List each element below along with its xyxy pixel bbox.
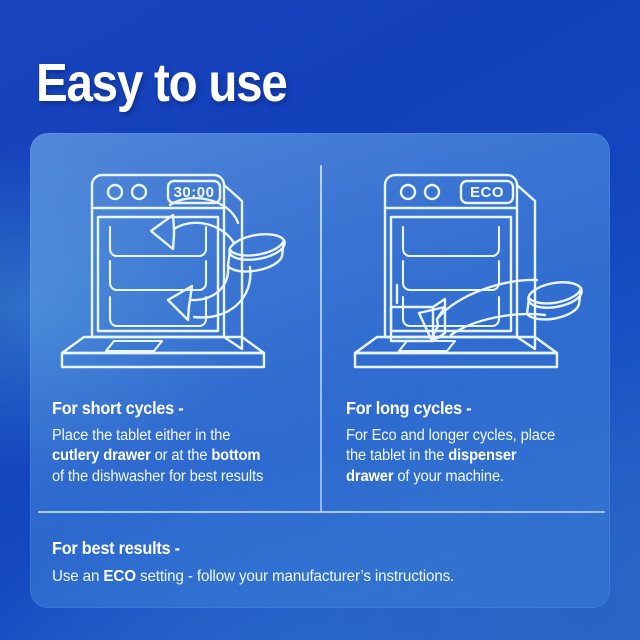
short-cycles-line1: Place the tablet either in the bbox=[52, 427, 230, 444]
long-cycles-bold-dispenser: dispenser bbox=[448, 447, 516, 464]
short-cycles-line2-mid: or at the bbox=[151, 447, 212, 464]
short-cycles-body: Place the tablet either in thecutlery dr… bbox=[52, 426, 294, 487]
infographic-root: Easy to use 30:00 bbox=[0, 0, 640, 640]
base-detail bbox=[106, 341, 162, 351]
short-cycles-bold-cutlery-drawer: cutlery drawer bbox=[52, 447, 151, 464]
knob-icon bbox=[425, 185, 439, 199]
best-results-post: setting - follow your manufacturer’s ins… bbox=[136, 568, 454, 585]
dishwasher-long-cycle-illustration: ECO bbox=[355, 155, 595, 370]
best-results-bold-eco: ECO bbox=[103, 568, 136, 585]
knob-icon bbox=[132, 185, 146, 199]
detergent-tablet bbox=[227, 230, 286, 271]
display-text: ECO bbox=[470, 184, 504, 201]
dishwasher-base-top bbox=[355, 337, 557, 353]
horizontal-divider bbox=[38, 511, 605, 513]
long-cycles-line2-pre: the tablet in the bbox=[346, 447, 448, 464]
knob-icon bbox=[108, 185, 122, 199]
best-results-block: For best results - Use an ECO setting - … bbox=[52, 538, 597, 587]
long-cycles-bold-drawer: drawer bbox=[346, 468, 393, 485]
dishwasher-short-cycle-illustration: 30:00 bbox=[62, 155, 302, 370]
arrow-to-bottom bbox=[168, 265, 250, 320]
panel-text-short-cycles: For short cycles - Place the tablet eith… bbox=[52, 398, 307, 487]
rack-middle bbox=[403, 261, 499, 290]
door-inner-frame bbox=[98, 217, 218, 331]
short-cycles-bold-bottom: bottom bbox=[211, 447, 260, 464]
short-cycles-line3: of the dishwasher for best results bbox=[52, 468, 263, 485]
dishwasher-side-panel bbox=[224, 185, 242, 349]
long-cycles-body: For Eco and longer cycles, placethe tabl… bbox=[346, 426, 584, 487]
dishwasher-base bbox=[355, 353, 557, 367]
knob-icon bbox=[401, 185, 415, 199]
panel-text-long-cycles: For long cycles - For Eco and longer cyc… bbox=[346, 398, 596, 487]
page-title: Easy to use bbox=[36, 56, 287, 110]
dishwasher-base-top bbox=[62, 337, 264, 353]
vertical-divider bbox=[320, 165, 322, 512]
long-cycles-line3-post: of your machine. bbox=[393, 468, 504, 485]
rack-bottom bbox=[110, 297, 206, 326]
dishwasher-base bbox=[62, 353, 264, 367]
best-results-heading: For best results - bbox=[52, 538, 559, 559]
rack-top bbox=[110, 227, 206, 256]
long-cycles-line1: For Eco and longer cycles, place bbox=[346, 427, 555, 444]
rack-top bbox=[403, 227, 499, 256]
best-results-body: Use an ECO setting - follow your manufac… bbox=[52, 566, 570, 587]
long-cycles-heading: For long cycles - bbox=[346, 398, 579, 419]
dishwasher-side-panel bbox=[517, 185, 535, 349]
best-results-pre: Use an bbox=[52, 568, 103, 585]
base-detail bbox=[399, 341, 455, 351]
short-cycles-heading: For short cycles - bbox=[52, 398, 289, 419]
door-inner-frame bbox=[391, 217, 511, 331]
rack-bottom bbox=[403, 297, 499, 326]
